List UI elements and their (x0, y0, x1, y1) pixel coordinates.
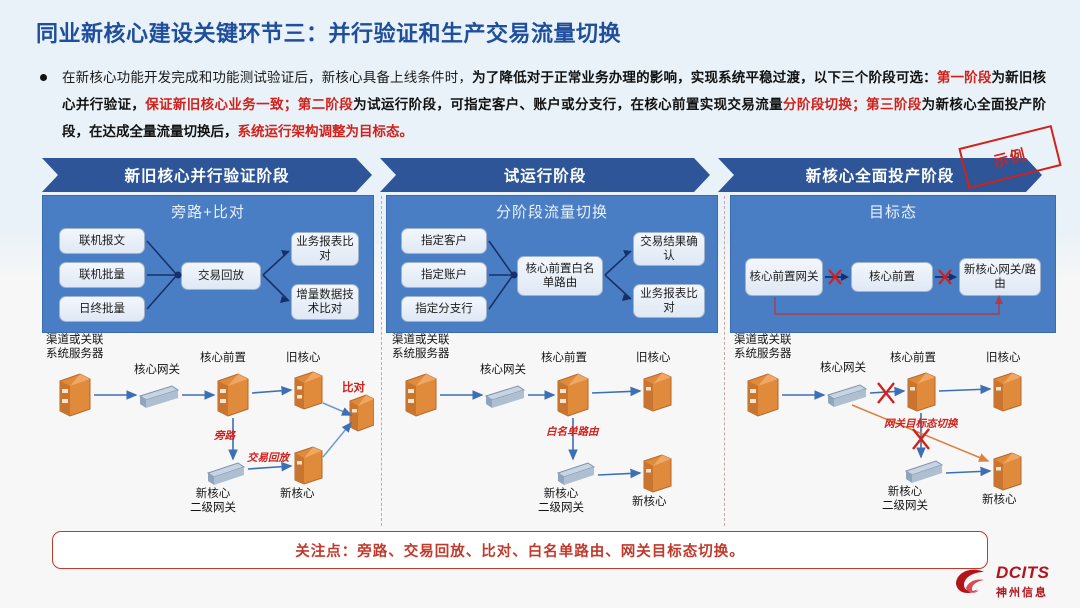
label-new-core-secondary-gateway-1: 新核心二级网关 (190, 487, 236, 515)
gateway-icon-new-core-secondary (208, 463, 244, 485)
logo-en-text: DCITS (996, 563, 1050, 583)
intro-seg-7: 为试运行阶段，可指定客户、账户或分支行，在核心前置实现交易流量 (353, 97, 783, 112)
label-old-core-1: 旧核心 (286, 351, 321, 365)
intro-phase-1-keyword: 第一阶段 (937, 70, 992, 85)
label-new-core-2: 新核心 (632, 495, 667, 509)
server-icon-core-front-2 (558, 374, 588, 416)
label-transaction-replay-flow: 交易回放 (247, 451, 289, 465)
server-icon-old-core (295, 372, 322, 409)
label-bypass: 旁路 (214, 429, 235, 443)
label-core-front-3: 核心前置 (890, 351, 936, 365)
label-whitelist-route-flow: 白名单路由 (546, 425, 599, 439)
gateway-icon-new-core-secondary-3 (906, 461, 942, 483)
dcits-mark-icon (952, 564, 994, 598)
phase-panel-2: 分阶段流量切换 指定客户 指定账户 指定分支行 核心前置白名单路由 交易结果确认… (386, 195, 718, 525)
server-icon-new-core-3 (994, 453, 1021, 490)
gateway-icon-core (140, 386, 178, 408)
phase-1-server-diagram: 渠道或关联系统服务器 核心网关 核心前置 旧核心 比对 旁路 交易回放 新核心二… (42, 333, 374, 523)
phase-3-box-connectors (731, 196, 1057, 334)
phase-2-concept-box: 分阶段流量切换 指定客户 指定账户 指定分支行 核心前置白名单路由 交易结果确认… (386, 195, 718, 333)
intro-paragraph: 在新核心功能开发完成和功能测试验证后，新核心具备上线条件时，为了降低对于正常业务… (62, 64, 1046, 145)
reroute-path (775, 297, 999, 314)
intro-seg-11: 系统运行架构调整为目标态。 (238, 124, 414, 139)
phase-1-concept-box: 旁路+比对 联机报文 联机批量 日终批量 交易回放 业务报表比对 增量数据技术比… (42, 195, 374, 333)
phase-2-box-connectors (387, 196, 719, 334)
intro-seg-1: 在新核心功能开发完成和功能测试验证后，新核心具备上线条件时， (62, 70, 472, 85)
phase-header-bar: 新旧核心并行验证阶段 试运行阶段 新核心全面投产阶段 (42, 158, 1042, 192)
label-channel-server-3: 渠道或关联系统服务器 (734, 333, 792, 361)
gateway-icon-new-core-secondary-2 (558, 463, 594, 485)
label-core-gateway-2: 核心网关 (480, 363, 526, 377)
label-old-core-3: 旧核心 (986, 351, 1021, 365)
server-icon-channel-3 (748, 374, 778, 416)
server-icon-old-core-2 (644, 373, 671, 411)
label-old-core-2: 旧核心 (636, 351, 671, 365)
intro-bullet-block: 在新核心功能开发完成和功能测试验证后，新核心具备上线条件时，为了降低对于正常业务… (36, 64, 1046, 145)
phase-header-2[interactable]: 试运行阶段 (380, 158, 710, 192)
server-icon-old-core-3 (994, 373, 1021, 411)
label-channel-server-1: 渠道或关联系统服务器 (46, 333, 104, 361)
intro-seg-8: 分阶段切换； (783, 97, 866, 112)
label-core-front-1: 核心前置 (200, 351, 246, 365)
phase-3-concept-box: 目标态 核心前置网关 核心前置 新核心网关/路由 (730, 195, 1056, 333)
panel-divider-2 (724, 196, 725, 526)
phase-panel-1: 旁路+比对 联机报文 联机批量 日终批量 交易回放 业务报表比对 增量数据技术比… (42, 195, 374, 525)
gateway-icon-core-3 (828, 385, 866, 407)
intro-phase-3-keyword: 第三阶段 (866, 97, 922, 112)
label-new-core-secondary-gateway-3: 新核心二级网关 (882, 485, 928, 513)
server-icon-channel (60, 374, 90, 416)
gateway-icon-core-2 (486, 386, 524, 408)
server-icon-new-core (295, 447, 322, 484)
intro-phase-2-keyword: 第二阶段 (297, 97, 353, 112)
label-channel-server-2: 渠道或关联系统服务器 (392, 333, 450, 361)
phase-2-server-diagram: 渠道或关联系统服务器 核心网关 核心前置 旧核心 白名单路由 新核心二级网关 新… (386, 333, 718, 523)
server-icon-compare (350, 395, 374, 431)
bullet-dot-icon (40, 74, 47, 81)
label-compare-1: 比对 (342, 381, 365, 395)
logo-text-block: DCITS 神州信息 (996, 563, 1050, 600)
label-new-core-secondary-gateway-2: 新核心二级网关 (538, 487, 584, 515)
phase-header-1[interactable]: 新旧核心并行验证阶段 (42, 158, 372, 192)
server-icon-channel-2 (406, 374, 436, 416)
label-core-gateway-3: 核心网关 (820, 361, 866, 375)
server-icon-core-front (218, 374, 248, 416)
logo-cn-text: 神州信息 (996, 584, 1050, 600)
phase-1-box-connectors (43, 196, 375, 334)
label-core-front-2: 核心前置 (541, 351, 587, 365)
phase-panel-3: 目标态 核心前置网关 核心前置 新核心网关/路由 (730, 195, 1056, 525)
intro-seg-5: 保证新旧核心业务一致； (145, 97, 297, 112)
panel-divider-1 (381, 196, 382, 526)
label-new-core-3: 新核心 (982, 493, 1017, 507)
server-icon-core-front-3 (908, 373, 935, 411)
page-title: 同业新核心建设关键环节三：并行验证和生产交易流量切换 (36, 16, 621, 48)
conclusion-box: 关注点：旁路、交易回放、比对、白名单路由、网关目标态切换。 (52, 531, 988, 569)
phase-3-server-diagram: 渠道或关联系统服务器 核心网关 核心前置 旧核心 网关目标态切换 新核心二级网关… (730, 333, 1056, 523)
label-gateway-target-switch: 网关目标态切换 (884, 417, 958, 431)
intro-seg-2: 为了降低对于正常业务办理的影响，实现系统平稳过渡，以下三个阶段可选： (472, 70, 937, 85)
label-core-gateway-1: 核心网关 (134, 363, 180, 377)
server-icon-new-core-2 (644, 455, 671, 492)
company-logo: DCITS 神州信息 (952, 562, 1070, 602)
label-new-core-1: 新核心 (280, 487, 315, 501)
